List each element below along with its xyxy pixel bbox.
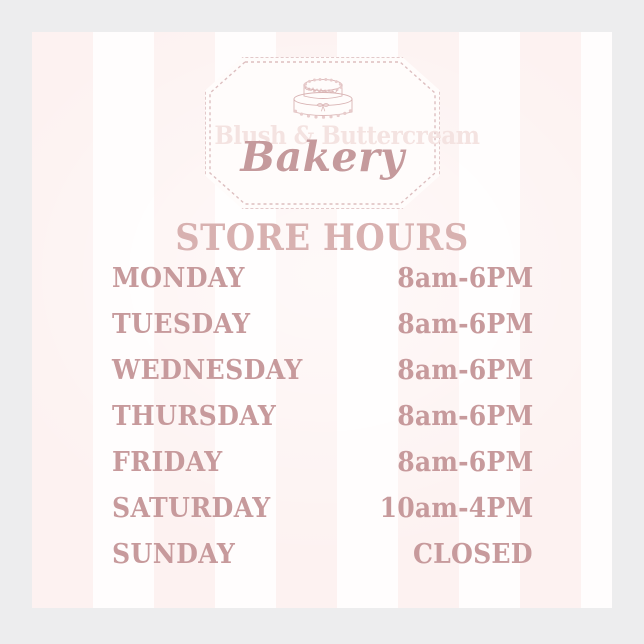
bakery-logo-badge: Blush & Buttercream Bakery (205, 57, 440, 209)
tiered-cake-icon (280, 71, 366, 121)
day-label: TUESDAY (112, 311, 250, 338)
time-label: 8am-6PM (397, 265, 533, 292)
day-label: FRIDAY (112, 449, 223, 476)
day-label: MONDAY (112, 265, 245, 292)
logo-script-name: Bakery (205, 137, 440, 178)
day-label: SUNDAY (112, 541, 235, 568)
store-hours-sign: Blush & Buttercream Bakery STORE HOURS M… (32, 32, 612, 608)
time-label: CLOSED (413, 541, 533, 568)
hours-row-sunday: SUNDAY CLOSED (112, 541, 533, 587)
day-label: SATURDAY (112, 495, 271, 522)
hours-row-saturday: SATURDAY 10am-4PM (112, 495, 533, 541)
hours-row-monday: MONDAY 8am-6PM (112, 265, 533, 311)
time-label: 8am-6PM (397, 403, 533, 430)
page-root: Blush & Buttercream Bakery STORE HOURS M… (0, 0, 644, 644)
day-label: THURSDAY (112, 403, 276, 430)
time-label: 8am-6PM (397, 449, 533, 476)
store-hours-table: MONDAY 8am-6PM TUESDAY 8am-6PM WEDNESDAY… (112, 265, 533, 587)
day-label: WEDNESDAY (112, 357, 303, 384)
hours-row-friday: FRIDAY 8am-6PM (112, 449, 533, 495)
time-label: 10am-4PM (379, 495, 533, 522)
hours-row-wednesday: WEDNESDAY 8am-6PM (112, 357, 533, 403)
hours-row-thursday: THURSDAY 8am-6PM (112, 403, 533, 449)
time-label: 8am-6PM (397, 311, 533, 338)
hours-row-tuesday: TUESDAY 8am-6PM (112, 311, 533, 357)
store-hours-title: STORE HOURS (49, 220, 594, 256)
time-label: 8am-6PM (397, 357, 533, 384)
